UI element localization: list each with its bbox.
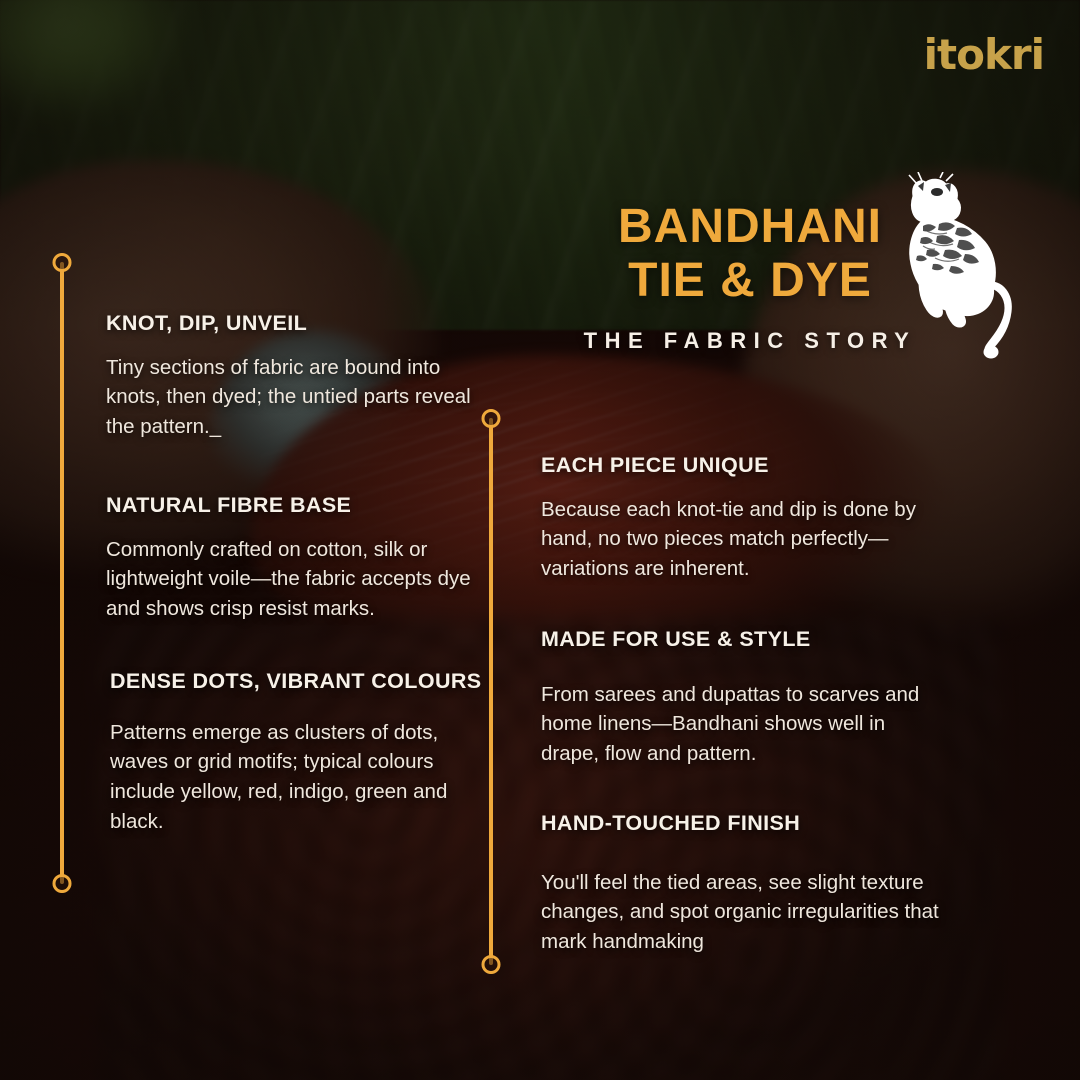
left-item-1-title: KNOT, DIP, UNVEIL	[106, 310, 476, 338]
right-item-3: HAND-TOUCHED FINISH You'll feel the tied…	[541, 810, 951, 957]
right-item-1: EACH PIECE UNIQUE Because each knot-tie …	[541, 452, 946, 584]
right-item-2-body: From sarees and dupattas to scarves and …	[541, 680, 946, 770]
left-item-2: NATURAL FIBRE BASE Commonly crafted on c…	[106, 492, 476, 624]
left-item-1-body: Tiny sections of fabric are bound into k…	[106, 353, 476, 443]
left-item-3-body: Patterns emerge as clusters of dots, wav…	[110, 718, 490, 838]
timeline-dot-top-right	[482, 409, 501, 428]
timeline-rail-left	[60, 262, 64, 884]
right-item-1-title: EACH PIECE UNIQUE	[541, 452, 946, 480]
timeline-dot-bottom-right	[482, 955, 501, 974]
headline-line-2: TIE & DYE	[540, 254, 960, 308]
right-item-3-title: HAND-TOUCHED FINISH	[541, 810, 951, 838]
left-item-2-title: NATURAL FIBRE BASE	[106, 492, 476, 520]
right-item-1-body: Because each knot-tie and dip is done by…	[541, 495, 946, 585]
itokri-logo[interactable]: itokri	[924, 34, 1044, 76]
left-item-1: KNOT, DIP, UNVEIL Tiny sections of fabri…	[106, 310, 476, 442]
left-item-2-body: Commonly crafted on cotton, silk or ligh…	[106, 535, 476, 625]
left-item-3-title: DENSE DOTS, VIBRANT COLOURS	[110, 668, 490, 696]
headline-block: BANDHANI TIE & DYE THE FABRIC STORY	[540, 200, 960, 354]
right-item-3-body: You'll feel the tied areas, see slight t…	[541, 868, 951, 958]
headline-subtitle: THE FABRIC STORY	[540, 328, 960, 354]
timeline-dot-top-left	[53, 253, 72, 272]
right-item-2-title: MADE FOR USE & STYLE	[541, 626, 946, 654]
right-item-2: MADE FOR USE & STYLE From sarees and dup…	[541, 626, 946, 769]
infographic-poster: itokri	[0, 0, 1080, 1080]
headline-line-1: BANDHANI	[540, 200, 960, 254]
left-item-3: DENSE DOTS, VIBRANT COLOURS Patterns eme…	[110, 668, 490, 837]
timeline-dot-bottom-left	[53, 874, 72, 893]
